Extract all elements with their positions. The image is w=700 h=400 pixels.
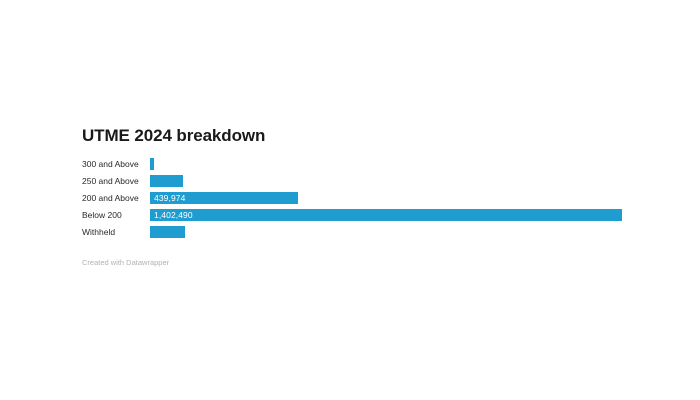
bar-fill[interactable] bbox=[150, 226, 185, 238]
bar-fill[interactable]: 1,402,490 bbox=[150, 209, 622, 221]
bar-track bbox=[150, 158, 642, 170]
bar-track bbox=[150, 175, 642, 187]
bar-track: 1,402,490 bbox=[150, 209, 642, 221]
bar-category-label: 300 and Above bbox=[82, 158, 150, 170]
chart-inner: UTME 2024 breakdown 300 and Above 250 an… bbox=[82, 126, 642, 268]
bar-chart-plot: 300 and Above 250 and Above 200 and Abov… bbox=[82, 155, 642, 240]
bar-fill[interactable] bbox=[150, 158, 154, 170]
bar-value-label: 1,402,490 bbox=[150, 209, 193, 221]
bar-category-label: Withheld bbox=[82, 226, 150, 238]
bar-row: 300 and Above bbox=[82, 155, 642, 172]
bar-row: 200 and Above 439,974 bbox=[82, 189, 642, 206]
bar-category-label: 200 and Above bbox=[82, 192, 150, 204]
bar-value-label: 439,974 bbox=[150, 192, 185, 204]
bar-category-label: Below 200 bbox=[82, 209, 150, 221]
datawrapper-credit[interactable]: Created with Datawrapper bbox=[82, 257, 642, 268]
bar-fill[interactable]: 439,974 bbox=[150, 192, 298, 204]
bar-row: Withheld bbox=[82, 223, 642, 240]
bar-track bbox=[150, 226, 642, 238]
bar-track: 439,974 bbox=[150, 192, 642, 204]
chart-container: UTME 2024 breakdown 300 and Above 250 an… bbox=[0, 0, 700, 400]
chart-title: UTME 2024 breakdown bbox=[82, 126, 642, 146]
bar-category-label: 250 and Above bbox=[82, 175, 150, 187]
bar-fill[interactable] bbox=[150, 175, 183, 187]
bar-row: Below 200 1,402,490 bbox=[82, 206, 642, 223]
bar-row: 250 and Above bbox=[82, 172, 642, 189]
